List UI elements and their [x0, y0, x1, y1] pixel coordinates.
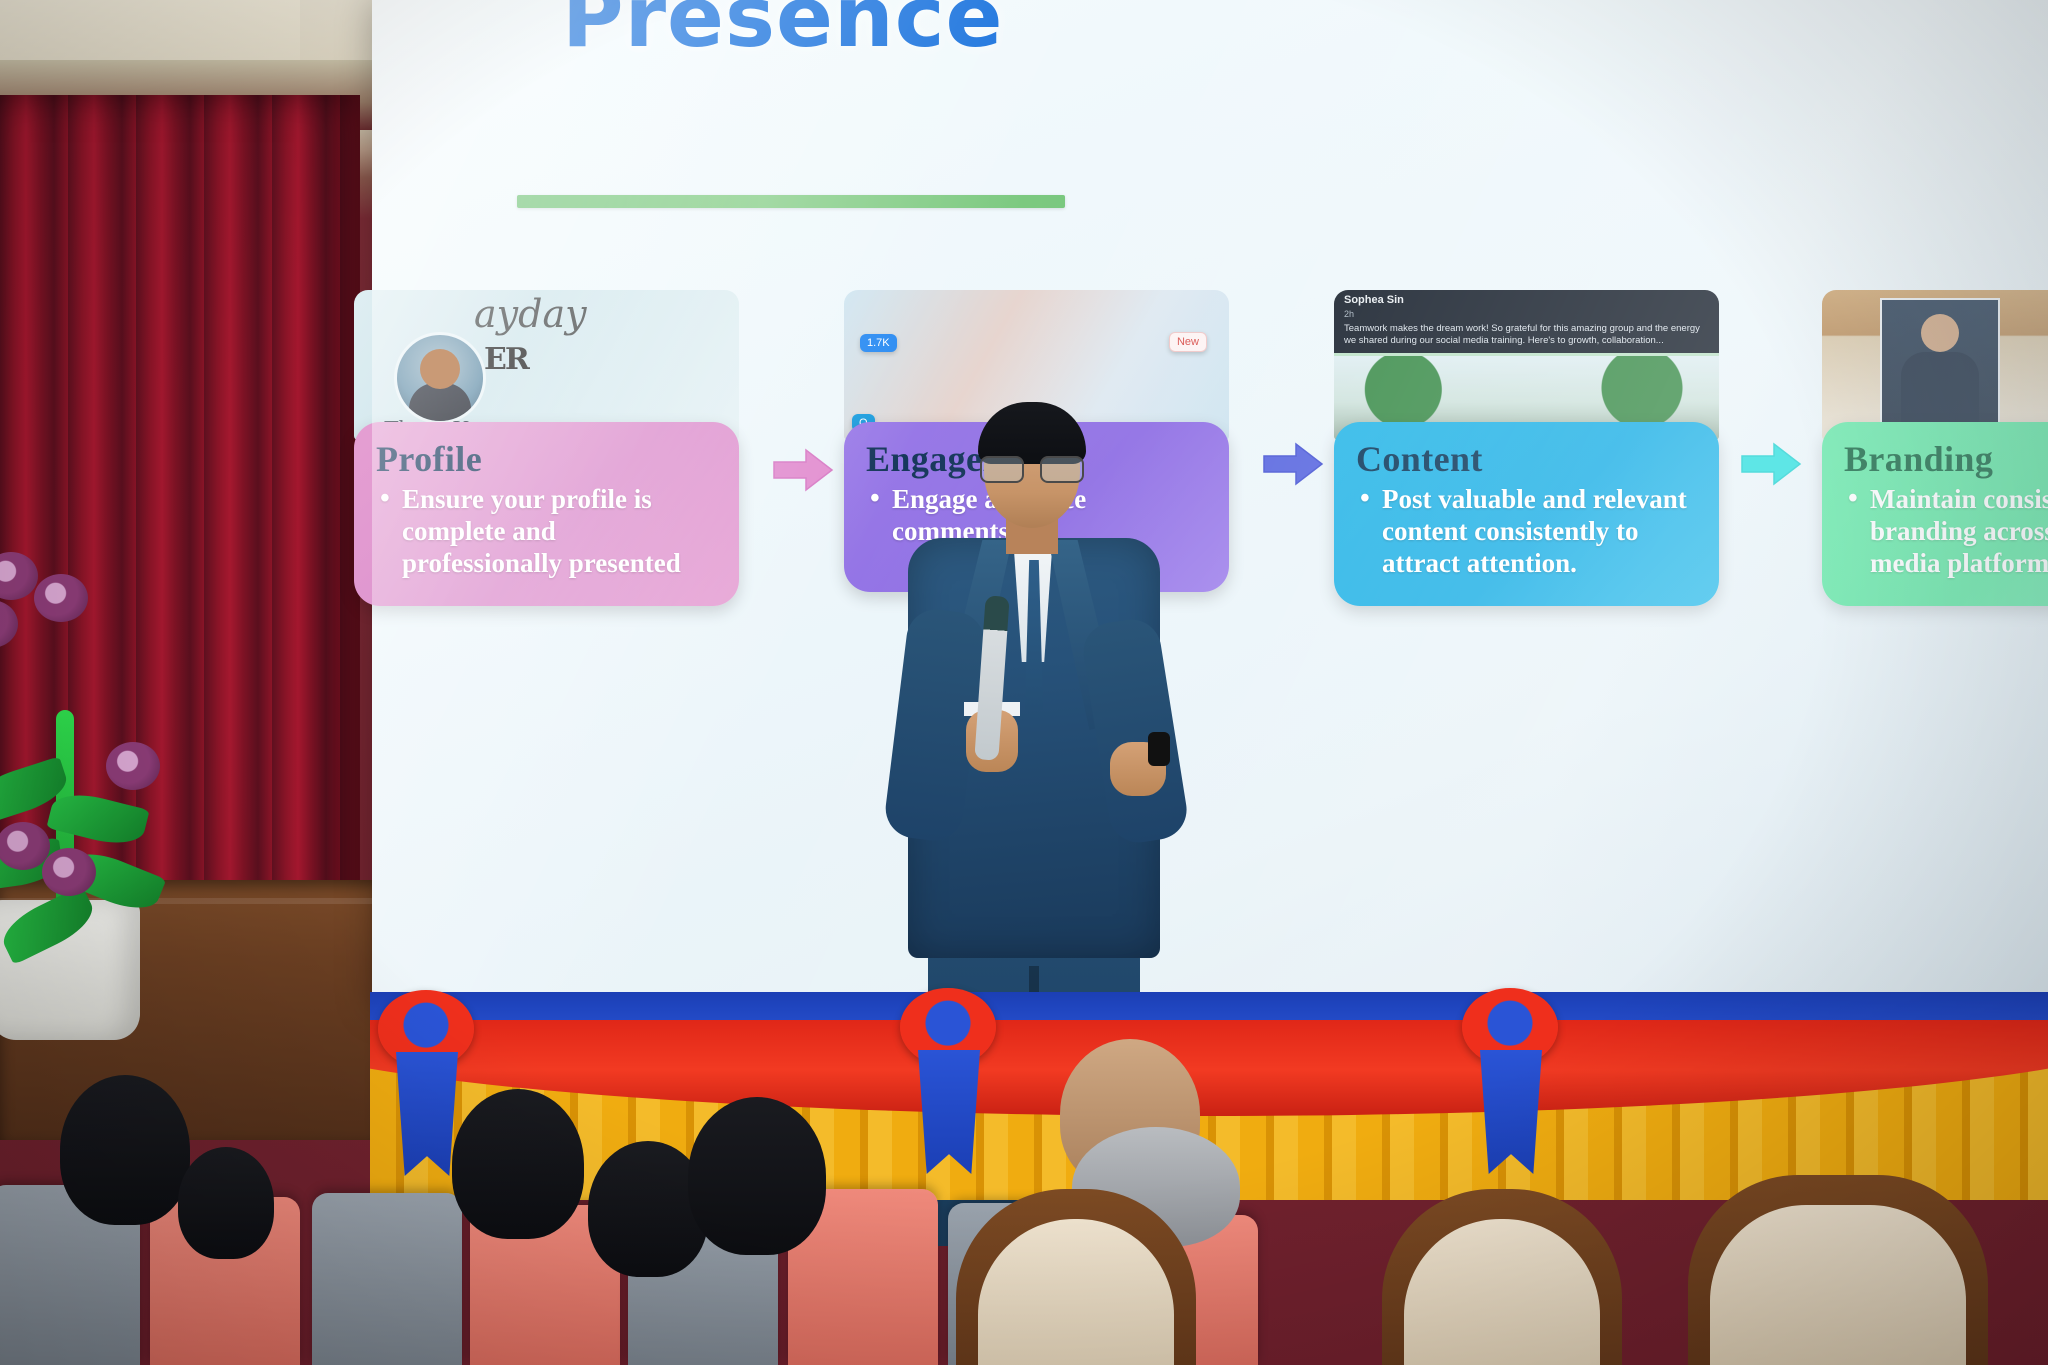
- wooden-chair: [1688, 1175, 1988, 1365]
- audience-head: [60, 1075, 190, 1225]
- card-content-heading: Content: [1356, 438, 1697, 480]
- card-profile: Profile Ensure your profile is complete …: [354, 422, 739, 606]
- glasses-icon: [980, 456, 1084, 480]
- profile-avatar: [394, 332, 486, 424]
- orchid-bloom: [0, 552, 38, 600]
- post-meta: 2h: [1344, 309, 1354, 319]
- card-content-bullet: Post valuable and relevant content consi…: [1356, 484, 1697, 580]
- card-profile-bullet: Ensure your profile is complete and prof…: [376, 484, 717, 580]
- orchid-bloom: [34, 574, 88, 622]
- audience-head: [178, 1147, 274, 1259]
- post-author: Sophea Sin: [1344, 294, 1404, 306]
- card-content-bullets: Post valuable and relevant content consi…: [1356, 484, 1697, 580]
- arrow-profile-to-engagement: [772, 448, 834, 492]
- card-branding-heading: Branding: [1844, 438, 2048, 480]
- audience: [0, 1030, 2048, 1365]
- audience-head: [452, 1089, 584, 1239]
- profile-banner-script: ayday: [474, 292, 587, 336]
- card-branding-bullets: Maintain consistent branding across soci…: [1844, 484, 2048, 580]
- profile-banner-khmer: ER: [484, 342, 528, 377]
- speaker-hair: [978, 402, 1086, 464]
- card-profile-heading: Profile: [376, 438, 717, 480]
- card-profile-bullets: Ensure your profile is complete and prof…: [376, 484, 717, 580]
- orchid-bloom: [0, 600, 18, 648]
- slide-step-row: ayday ER Thong Kanann Profile Ensure you…: [372, 0, 2048, 1000]
- profile-screenshot: ayday ER Thong Kanann: [354, 290, 739, 440]
- potted-orchid-plant: [0, 560, 230, 1040]
- content-screenshot: Sophea Sin 2h Teamwork makes the dream w…: [1334, 290, 1719, 440]
- step-branding: Branding Maintain consistent branding ac…: [1822, 290, 2048, 606]
- orchid-bloom: [42, 848, 96, 896]
- card-content: Content Post valuable and relevant conte…: [1334, 422, 1719, 606]
- seat: [312, 1193, 462, 1365]
- card-branding-bullet: Maintain consistent branding across soci…: [1844, 484, 2048, 580]
- step-content: Sophea Sin 2h Teamwork makes the dream w…: [1334, 290, 1719, 606]
- audience-head: [688, 1097, 826, 1255]
- wooden-chair: [1382, 1189, 1622, 1365]
- presentation-clicker: [1148, 732, 1170, 766]
- step-profile: ayday ER Thong Kanann Profile Ensure you…: [354, 290, 739, 606]
- card-branding: Branding Maintain consistent branding ac…: [1822, 422, 2048, 606]
- message-chip: New: [1169, 332, 1207, 352]
- post-text: Teamwork makes the dream work! So gratef…: [1344, 323, 1709, 348]
- like-chip: 1.7K: [860, 334, 897, 352]
- orchid-bloom: [106, 742, 160, 790]
- branding-photo-frame: [1880, 298, 2000, 438]
- presentation-photo-scene: Presence ayday ER Thong Kanann Profile E…: [0, 0, 2048, 1365]
- branding-screenshot: [1822, 290, 2048, 440]
- arrow-engagement-to-content: [1262, 442, 1324, 486]
- projection-screen: Presence ayday ER Thong Kanann Profile E…: [372, 0, 2048, 1000]
- arrow-content-to-branding: [1740, 442, 1802, 486]
